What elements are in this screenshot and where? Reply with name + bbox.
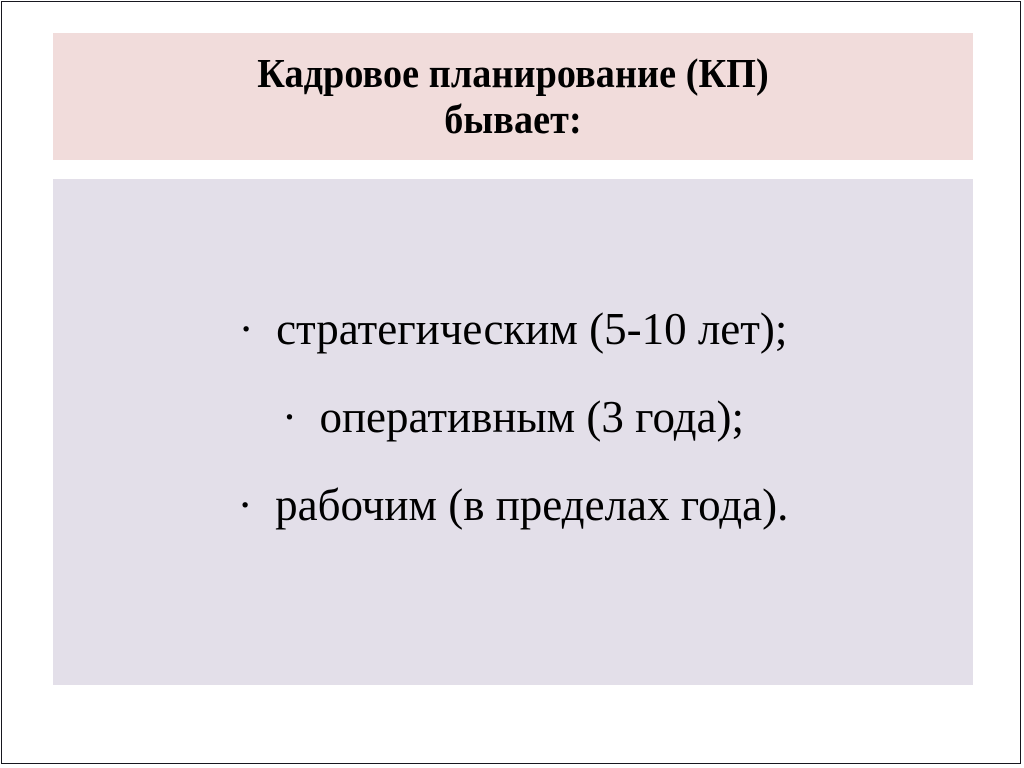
bullet-item-operational: · оперативным (3 года); bbox=[53, 373, 973, 461]
slide-title-box: Кадровое планирование (КП) бывает: bbox=[53, 33, 973, 160]
bullet-item-working: · рабочим (в пределах года). bbox=[53, 461, 973, 549]
page-title: Кадровое планирование (КП) бывает: bbox=[257, 51, 769, 143]
slide-content-box: · стратегическим (5-10 лет); · оперативн… bbox=[53, 179, 973, 685]
slide-canvas: Кадровое планирование (КП) бывает: · стр… bbox=[1, 1, 1021, 764]
bullet-item-strategic: · стратегическим (5-10 лет); bbox=[53, 285, 973, 373]
